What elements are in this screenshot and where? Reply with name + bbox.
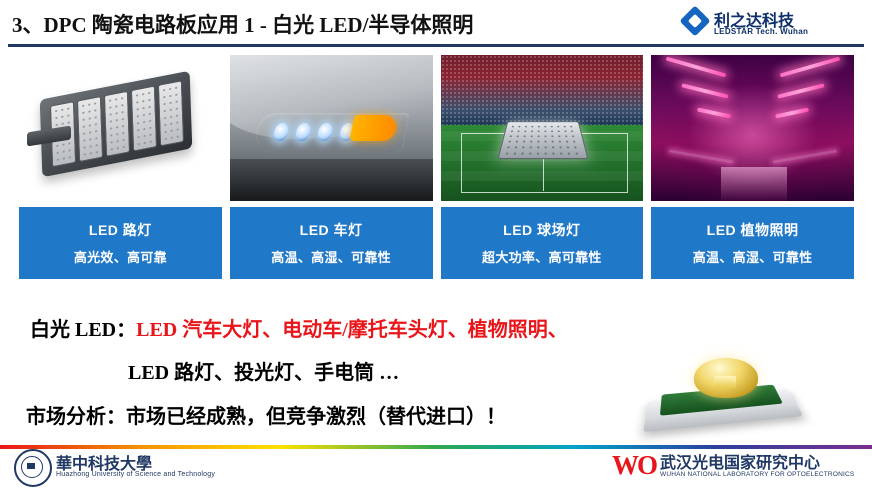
hust-seal-icon: [14, 449, 52, 487]
car-bumper: [230, 159, 433, 201]
caption-subtitle: 高光效、高可靠: [74, 247, 167, 266]
caption-subtitle: 高温、高湿、可靠性: [693, 247, 813, 266]
led-die: [714, 376, 736, 388]
body-line-1-highlight: LED 汽车大灯、电动车/摩托车头灯、植物照明、: [136, 319, 568, 341]
product-photo-row: [19, 55, 854, 201]
body-line-2: LED 路灯、投光灯、手电筒 …: [128, 356, 399, 385]
body-line-1: 白光 LED：LED 汽车大灯、电动车/摩托车头灯、植物照明、: [30, 313, 568, 342]
caption-title: LED 植物照明: [707, 220, 799, 240]
ledstar-logo-en: LEDSTAR Tech. Wuhan: [714, 27, 808, 36]
page-title: 3、DPC 陶瓷电路板应用 1 - 白光 LED/半导体照明: [12, 9, 473, 39]
wnlo-logo: WO 武汉光电国家研究中心 WUHAN NATIONAL LABORATORY …: [612, 449, 862, 487]
stadium-stands: [441, 55, 644, 129]
ledstar-diamond-icon: [679, 5, 710, 36]
wnlo-name-en: WUHAN NATIONAL LABORATORY FOR OPTOELECTR…: [660, 471, 854, 478]
slide-header: 3、DPC 陶瓷电路板应用 1 - 白光 LED/半导体照明 利之达科技 LED…: [0, 0, 872, 48]
street-lamp-housing: [40, 71, 193, 177]
body-line-3: 市场分析：市场已经成熟，但竞争激烈（替代进口）！: [26, 400, 506, 429]
led-car-headlight-photo: [230, 55, 433, 201]
wnlo-mark-right: O: [637, 450, 656, 480]
wnlo-mark-left: W: [612, 450, 637, 480]
hust-logo: 華中科技大學 Huazhong University of Science an…: [14, 449, 264, 487]
header-divider: [8, 44, 864, 47]
caption-title: LED 路灯: [89, 220, 152, 240]
caption-led-street-lamp: LED 路灯 高光效、高可靠: [19, 207, 222, 279]
caption-title: LED 车灯: [300, 220, 363, 240]
hust-name-en: Huazhong University of Science and Techn…: [56, 471, 215, 478]
turn-signal-lamp: [349, 115, 399, 141]
grow-walkway: [721, 167, 787, 201]
ledstar-logo: 利之达科技 LEDSTAR Tech. Wuhan: [684, 6, 864, 42]
caption-subtitle: 超大功率、高可靠性: [482, 247, 602, 266]
led-stadium-light-photo: [441, 55, 644, 201]
led-street-lamp-photo: [19, 55, 222, 201]
wnlo-mark-icon: WO: [612, 449, 652, 481]
wnlo-name-cn: 武汉光电国家研究中心: [660, 449, 820, 473]
caption-led-stadium-lamp: LED 球场灯 超大功率、高可靠性: [441, 207, 644, 279]
caption-led-car-lamp: LED 车灯 高温、高湿、可靠性: [230, 207, 433, 279]
led-plant-grow-light-photo: [651, 55, 854, 201]
caption-led-plant-lighting: LED 植物照明 高温、高湿、可靠性: [651, 207, 854, 279]
led-package-photo: [640, 352, 815, 436]
body-line-1-prefix: 白光 LED：: [30, 319, 136, 341]
caption-row: LED 路灯 高光效、高可靠 LED 车灯 高温、高湿、可靠性 LED 球场灯 …: [19, 207, 854, 279]
caption-title: LED 球场灯: [503, 220, 580, 240]
caption-subtitle: 高温、高湿、可靠性: [271, 247, 391, 266]
stadium-led-fixture: [497, 121, 588, 159]
